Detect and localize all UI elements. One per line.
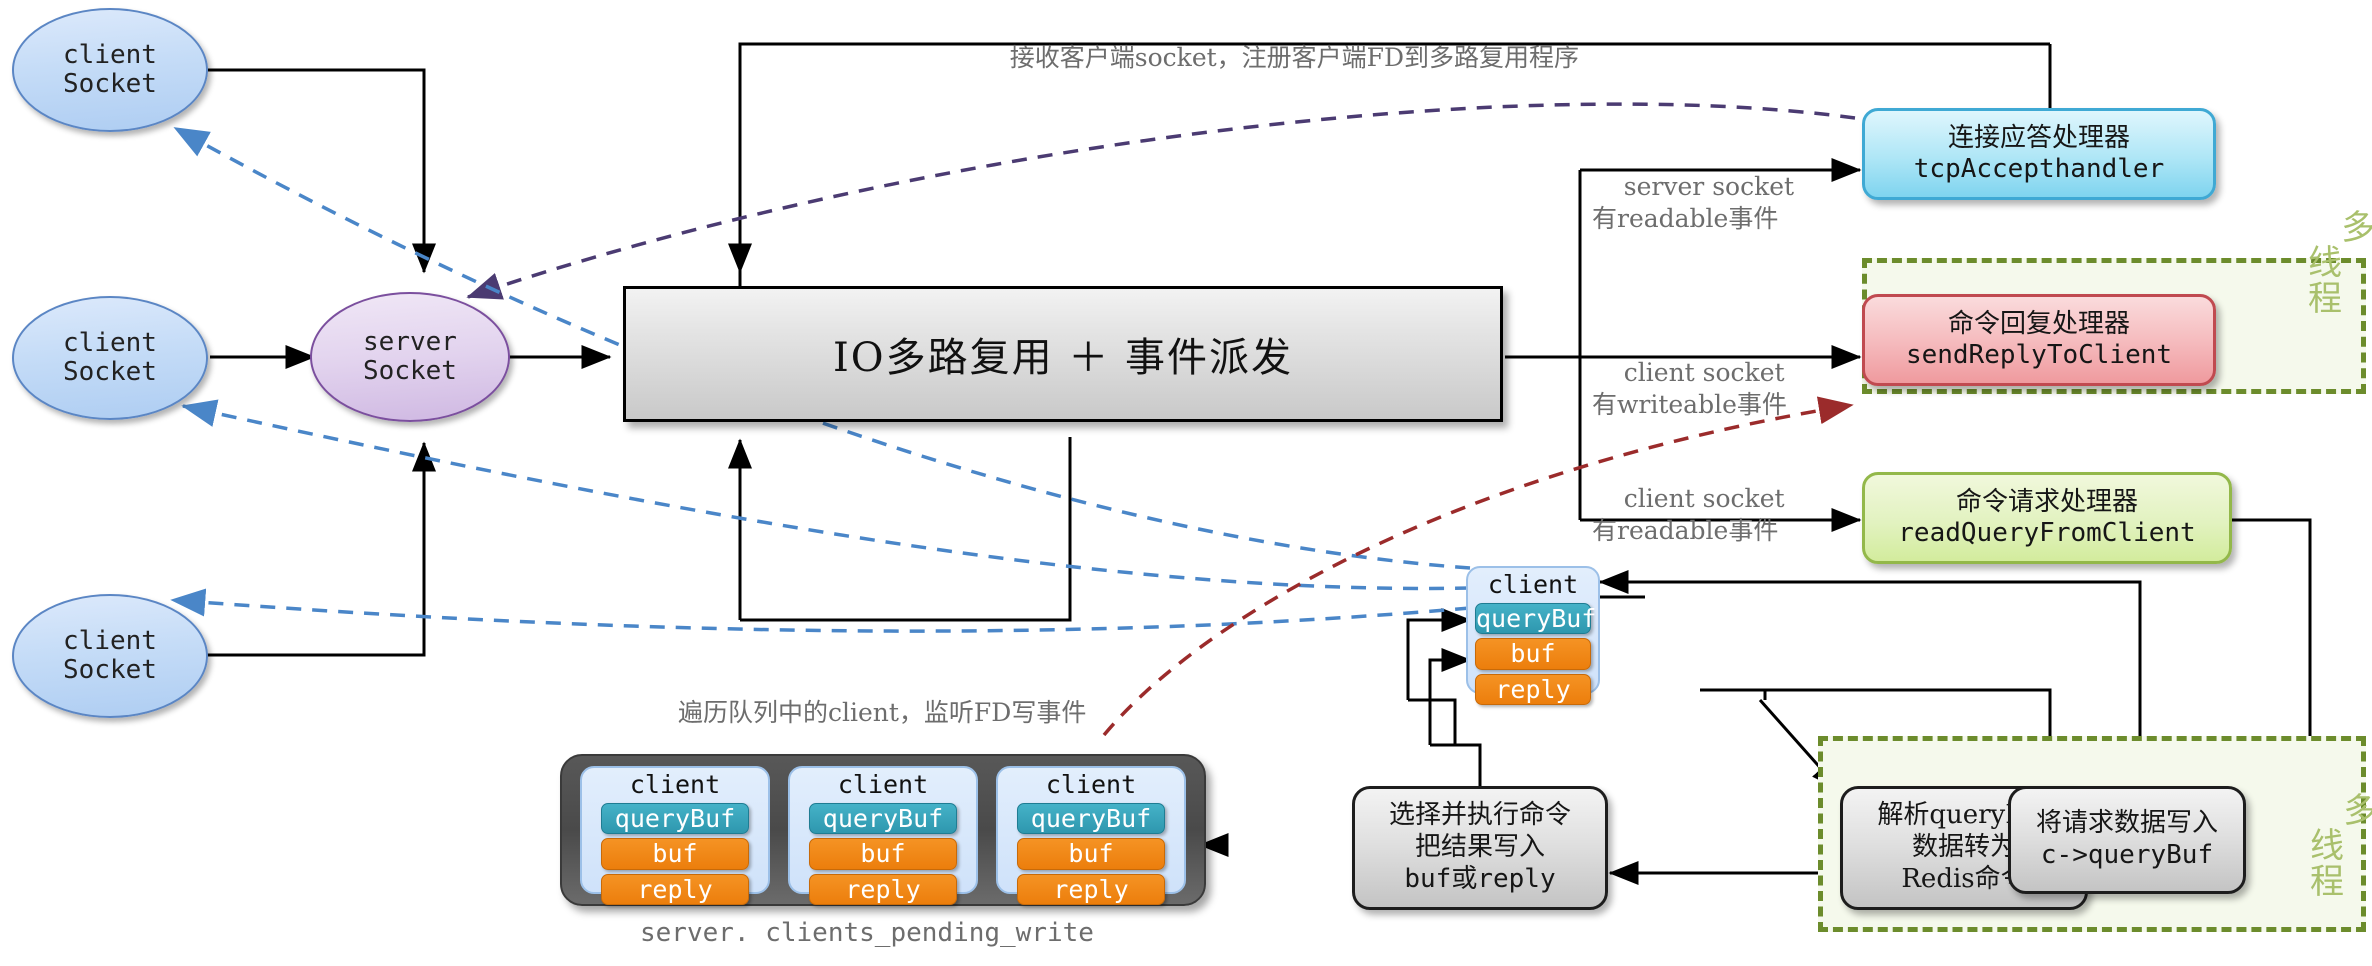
client-struct-slot-querybuf[interactable]: queryBuf xyxy=(1475,603,1591,635)
tcp-accept-handler-box[interactable]: 连接应答处理器 tcpAccepthandler xyxy=(1862,108,2216,200)
pending-client-3-header: client xyxy=(1046,771,1136,799)
pending-client-2-header: client xyxy=(838,771,928,799)
note-middle-line1: 遍历队列中的client，监听FD写事件 xyxy=(678,696,1086,729)
execute-command-box[interactable]: 选择并执行命令 把结果写入 buf或reply xyxy=(1352,786,1608,910)
read-query-handler-en: readQueryFromClient xyxy=(1898,518,2195,549)
pending-client-2[interactable]: client queryBuf buf reply xyxy=(788,766,978,894)
server-socket-line1: server xyxy=(363,328,457,357)
execute-command-line2: 把结果写入 xyxy=(1415,832,1545,864)
pending-client-1-slot-querybuf[interactable]: queryBuf xyxy=(601,803,749,835)
client-socket-2-line1: client xyxy=(63,329,157,358)
io-multiplexing-label: IO多路复用 ＋ 事件派发 xyxy=(833,325,1293,383)
client-socket-3-line2: Socket xyxy=(63,656,157,685)
server-socket-line2: Socket xyxy=(363,357,457,386)
write-to-querybuf-line1: 将请求数据写入 xyxy=(2036,808,2218,840)
multithread-group-bottom-label: 多 线 程 xyxy=(2300,758,2354,936)
pending-client-3-slot-reply[interactable]: reply xyxy=(1017,874,1165,906)
client-socket-1-line1: client xyxy=(63,41,157,70)
client-struct[interactable]: client queryBuf buf reply xyxy=(1466,566,1600,694)
client-struct-slot-reply[interactable]: reply xyxy=(1475,674,1591,706)
read-query-handler-cn: 命令请求处理器 xyxy=(1956,487,2138,518)
execute-command-line1: 选择并执行命令 xyxy=(1389,800,1571,832)
pending-client-2-slot-reply[interactable]: reply xyxy=(809,874,957,906)
io-multiplexing-box[interactable]: IO多路复用 ＋ 事件派发 xyxy=(623,286,1503,422)
client-socket-2-line2: Socket xyxy=(63,358,157,387)
edge-label-client-readable: client socket 有readable事件 xyxy=(1592,452,1785,577)
pending-client-3-slot-querybuf[interactable]: queryBuf xyxy=(1017,803,1165,835)
edge-label-server-readable: server socket 有readable事件 xyxy=(1592,140,1794,265)
send-reply-handler-cn: 命令回复处理器 xyxy=(1948,309,2130,340)
send-reply-handler-box[interactable]: 命令回复处理器 sendReplyToClient xyxy=(1862,294,2216,386)
multithread-group-top-label: 多 线 程 xyxy=(2298,175,2352,353)
send-reply-handler-en: sendReplyToClient xyxy=(1906,340,2172,371)
client-struct-slot-buf[interactable]: buf xyxy=(1475,638,1591,670)
client-socket-3[interactable]: client Socket xyxy=(12,594,208,718)
edge-label-client-writeable: client socket 有writeable事件 xyxy=(1592,326,1787,451)
pending-client-1-slot-reply[interactable]: reply xyxy=(601,874,749,906)
execute-command-line3: buf或reply xyxy=(1404,864,1555,896)
client-socket-3-line1: client xyxy=(63,627,157,656)
server-socket[interactable]: server Socket xyxy=(310,292,510,422)
pending-client-1-slot-buf[interactable]: buf xyxy=(601,838,749,870)
write-to-querybuf-line2: c->queryBuf xyxy=(2041,840,2213,872)
pending-client-2-slot-querybuf[interactable]: queryBuf xyxy=(809,803,957,835)
clients-pending-write-caption: server. clients_pending_write xyxy=(640,918,1094,948)
client-socket-1[interactable]: client Socket xyxy=(12,8,208,132)
read-query-handler-box[interactable]: 命令请求处理器 readQueryFromClient xyxy=(1862,472,2232,564)
client-struct-header: client xyxy=(1488,571,1578,599)
write-to-querybuf-box[interactable]: 将请求数据写入 c->queryBuf xyxy=(2008,786,2246,894)
pending-client-3-slot-buf[interactable]: buf xyxy=(1017,838,1165,870)
tcp-accept-handler-cn: 连接应答处理器 xyxy=(1948,123,2130,154)
pending-client-2-slot-buf[interactable]: buf xyxy=(809,838,957,870)
tcp-accept-handler-en: tcpAccepthandler xyxy=(1914,154,2164,185)
pending-client-3[interactable]: client queryBuf buf reply xyxy=(996,766,1186,894)
note-top: 接收客户端socket，注册客户端FD到多路复用程序 xyxy=(978,8,1579,107)
pending-client-1[interactable]: client queryBuf buf reply xyxy=(580,766,770,894)
parse-querybuf-line2: 数据转为 xyxy=(1912,832,2016,864)
client-socket-2[interactable]: client Socket xyxy=(12,296,208,420)
diagram-canvas: client Socket client Socket client Socke… xyxy=(0,0,2372,966)
client-socket-1-line2: Socket xyxy=(63,70,157,99)
pending-client-1-header: client xyxy=(630,771,720,799)
